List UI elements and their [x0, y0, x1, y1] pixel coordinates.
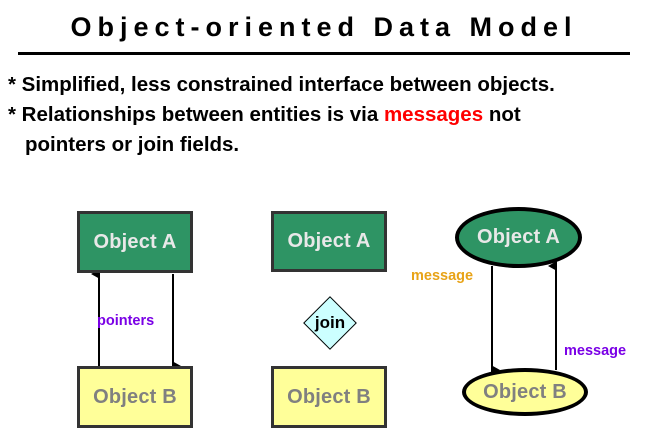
- messages-object-a-ellipse[interactable]: Object A: [455, 207, 582, 268]
- diagram-area: Object A Object B pointers Object A join…: [0, 0, 648, 438]
- messages-edge-label-bottom: message: [564, 343, 626, 359]
- pointers-object-b-box[interactable]: Object B: [77, 366, 193, 428]
- join-object-b-box[interactable]: Object B: [271, 366, 387, 428]
- join-relationship-label: join: [303, 312, 357, 334]
- join-object-a-label: Object A: [287, 230, 370, 253]
- pointers-object-b-label: Object B: [93, 386, 177, 409]
- pointers-object-a-label: Object A: [93, 231, 176, 254]
- join-object-a-box[interactable]: Object A: [271, 211, 387, 272]
- messages-object-a-label: Object A: [477, 226, 560, 249]
- pointers-edge-label: pointers: [97, 313, 154, 329]
- messages-edge-label-top: message: [411, 268, 473, 284]
- pointers-object-a-box[interactable]: Object A: [77, 211, 193, 273]
- join-object-b-label: Object B: [287, 386, 371, 409]
- messages-object-b-label: Object B: [483, 381, 567, 404]
- messages-object-b-ellipse[interactable]: Object B: [462, 368, 588, 416]
- slide-canvas: Object-oriented Data Model * Simplified,…: [0, 0, 648, 438]
